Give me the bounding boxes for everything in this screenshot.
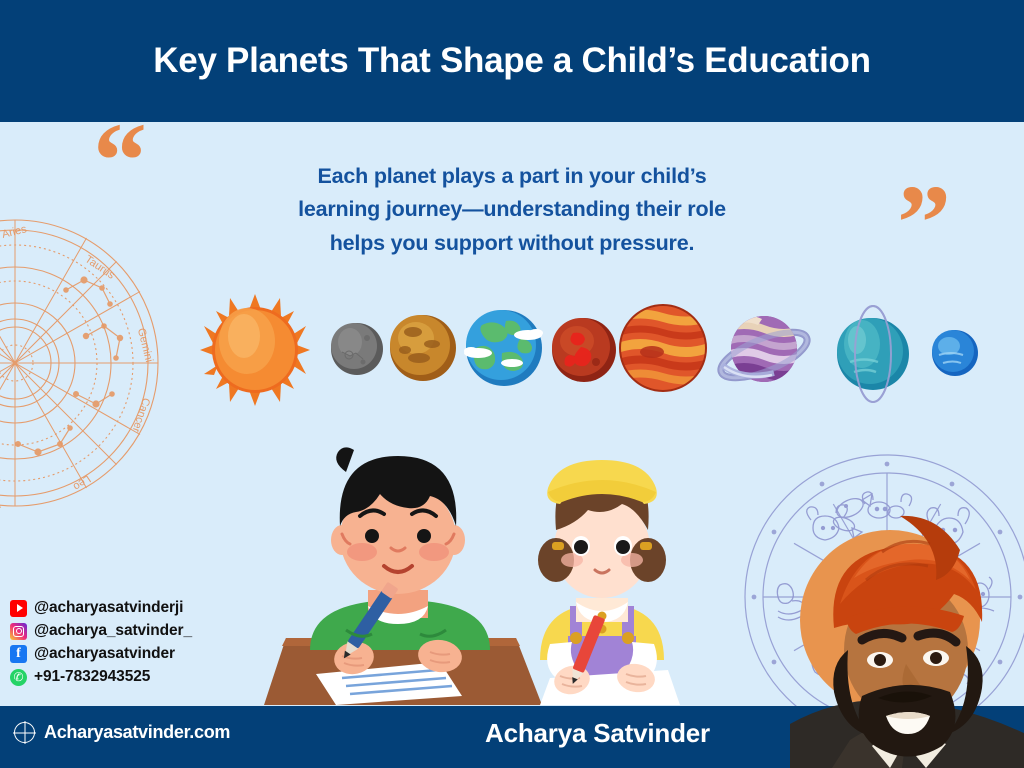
svg-text:Leo: Leo (71, 472, 93, 492)
quote-line-1: Each planet plays a part in your child’s (262, 160, 762, 193)
header-bar: Key Planets That Shape a Child’s Educati… (0, 0, 1024, 122)
planet-jupiter (618, 303, 708, 398)
youtube-icon (10, 600, 27, 617)
planet-mercury (330, 322, 384, 381)
social-row-instagram[interactable]: @acharya_satvinder_ (10, 621, 192, 641)
planet-uranus (830, 304, 916, 409)
quote-close-icon: ” (897, 170, 951, 278)
social-row-facebook[interactable]: f @acharyasatvinder (10, 644, 192, 664)
footer-brand-name: Acharya Satvinder (485, 718, 710, 749)
quote-line-3: helps you support without pressure. (262, 227, 762, 260)
social-handle-whatsapp: +91-7832943525 (34, 668, 150, 686)
planet-venus (389, 314, 457, 387)
planet-sun (200, 294, 310, 411)
planet-saturn (716, 305, 812, 402)
quote-open-icon: “ (93, 108, 147, 216)
planet-row (0, 290, 1024, 425)
svg-text:Virgo: Virgo (0, 497, 3, 508)
instagram-icon (10, 623, 27, 640)
poster-canvas: Aries Taurus Gemini Cancer Leo Virgo ♈ ♉… (0, 0, 1024, 768)
footer-website-link[interactable]: Acharyasatvinder.com (14, 722, 230, 743)
girl-writing (538, 460, 680, 705)
globe-icon (14, 722, 35, 743)
footer-website-text: Acharyasatvinder.com (44, 722, 230, 743)
quote-line-2: learning journey—understanding their rol… (262, 193, 762, 226)
page-title: Key Planets That Shape a Child’s Educati… (153, 41, 870, 81)
social-handle-youtube: @acharyasatvinderji (34, 599, 183, 617)
portrait-acharya-satvinder (790, 500, 1024, 768)
social-handle-instagram: @acharya_satvinder_ (34, 622, 192, 640)
planet-neptune (931, 329, 979, 382)
facebook-icon: f (10, 645, 27, 663)
quote-block: Each planet plays a part in your child’s… (262, 160, 762, 260)
social-handle-facebook: @acharyasatvinder (34, 645, 175, 663)
planet-mars (551, 317, 617, 388)
planet-earth (462, 307, 546, 394)
social-row-youtube[interactable]: @acharyasatvinderji (10, 598, 192, 618)
kids-illustration (250, 430, 770, 705)
social-handles-list: @acharyasatvinderji @acharya_satvinder_ … (10, 598, 192, 687)
social-row-whatsapp[interactable]: ✆ +91-7832943525 (10, 667, 192, 687)
whatsapp-icon: ✆ (10, 669, 27, 686)
